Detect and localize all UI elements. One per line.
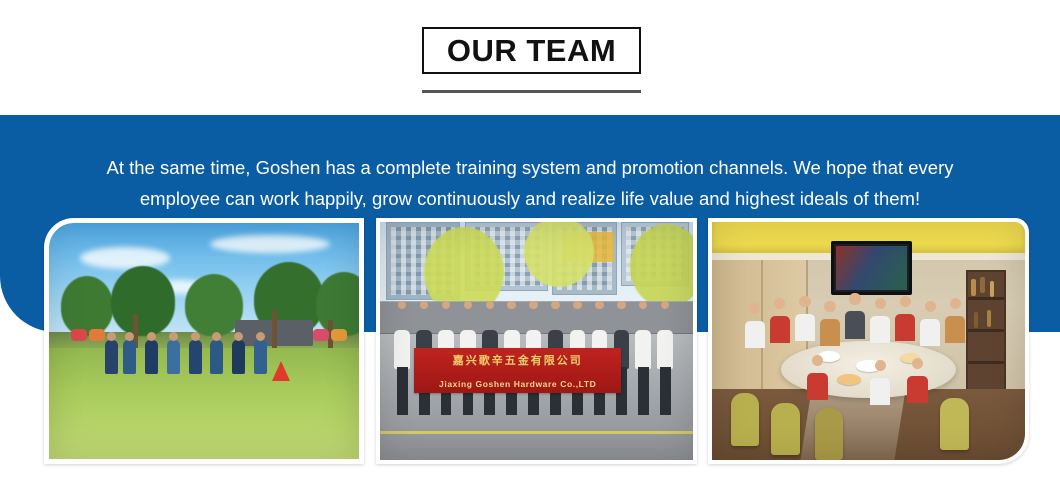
page-title: OUR TEAM	[447, 35, 616, 66]
banner-text-chinese: 嘉兴歌辛五金有限公司	[414, 352, 621, 368]
intro-paragraph: At the same time, Goshen has a complete …	[70, 152, 990, 214]
title-underline-rule	[422, 90, 641, 93]
photo-artwork	[712, 222, 1025, 460]
company-banner: 嘉兴歌辛五金有限公司 Jiaxing Goshen Hardware Co.,L…	[414, 348, 621, 393]
team-photo-dinner[interactable]	[708, 218, 1029, 464]
photo-frame: 嘉兴歌辛五金有限公司 Jiaxing Goshen Hardware Co.,L…	[380, 222, 693, 460]
our-team-section: OUR TEAM At the same time, Goshen has a …	[0, 0, 1060, 486]
section-header: OUR TEAM	[0, 0, 1060, 115]
team-photo-outdoor-activity[interactable]	[44, 218, 364, 464]
team-photo-gallery: 嘉兴歌辛五金有限公司 Jiaxing Goshen Hardware Co.,L…	[0, 218, 1060, 468]
photo-frame	[712, 222, 1025, 460]
photo-frame	[49, 223, 359, 459]
photo-artwork: 嘉兴歌辛五金有限公司 Jiaxing Goshen Hardware Co.,L…	[380, 222, 693, 460]
photo-artwork	[49, 223, 359, 459]
team-photo-group-banner[interactable]: 嘉兴歌辛五金有限公司 Jiaxing Goshen Hardware Co.,L…	[376, 218, 697, 464]
page-title-box: OUR TEAM	[422, 27, 641, 74]
banner-text-english: Jiaxing Goshen Hardware Co.,LTD	[414, 379, 621, 389]
